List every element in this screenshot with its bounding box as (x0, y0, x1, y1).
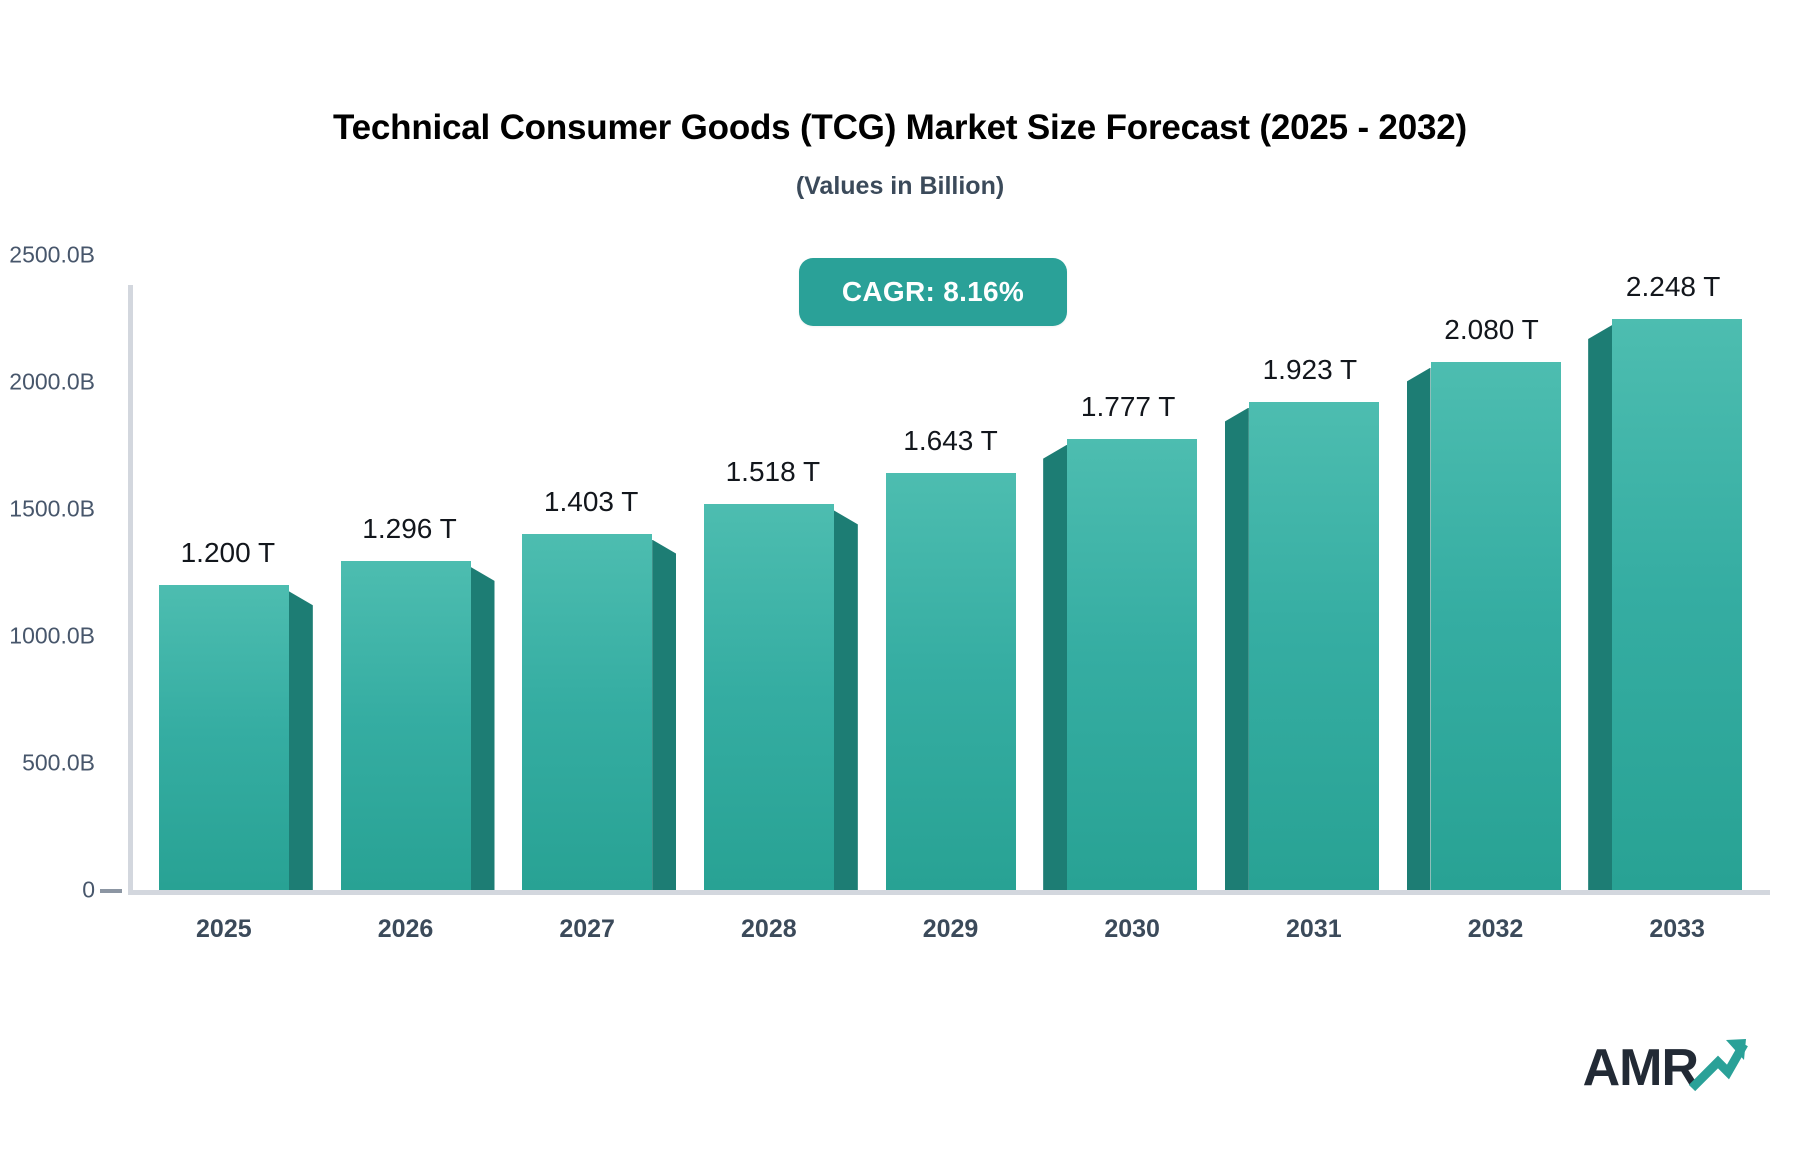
bar-value-label: 2.248 T (1626, 271, 1720, 303)
growth-arrow-icon (1688, 1036, 1748, 1094)
amr-logo-text: AMR (1583, 1042, 1698, 1094)
bar-side-face (1588, 325, 1612, 890)
bars-layer: 1.200 T20251.296 T20261.403 T20271.518 T… (0, 0, 1800, 1156)
bar-front-face[interactable] (1612, 319, 1742, 890)
chart-container: Technical Consumer Goods (TCG) Market Si… (0, 0, 1800, 1156)
bar-group[interactable]: 2.248 T2033 (0, 0, 1800, 1156)
x-axis-tick-label: 2033 (1649, 915, 1705, 944)
amr-logo: AMR (1583, 1034, 1748, 1094)
